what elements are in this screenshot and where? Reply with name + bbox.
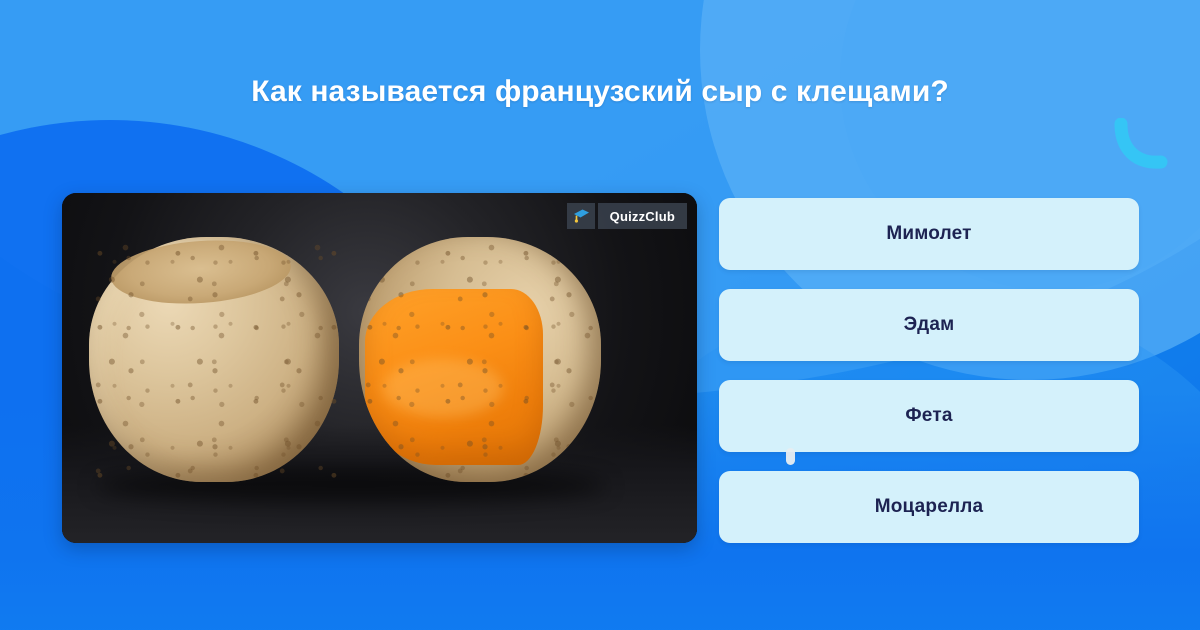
answer-option-1-label: Мимолет [886, 223, 971, 245]
answer-option-2[interactable]: Эдам [719, 289, 1139, 361]
page-title: Как называется французский сыр с клещами… [0, 72, 1200, 112]
graduation-cap-icon [572, 208, 590, 224]
answer-option-4[interactable]: Моцарелла [719, 471, 1139, 543]
scroll-handle[interactable] [786, 448, 795, 465]
watermark-label: QuizzClub [598, 203, 687, 229]
quizzclub-watermark: QuizzClub [567, 203, 687, 229]
answer-option-3[interactable]: Фета [719, 380, 1139, 452]
quiz-card: Как называется французский сыр с клещами… [0, 0, 1200, 630]
answer-options-list: Мимолет Эдам Фета Моцарелла [719, 198, 1139, 543]
answer-option-2-label: Эдам [904, 314, 955, 336]
cheese-cut-half [359, 237, 601, 482]
answer-option-1[interactable]: Мимолет [719, 198, 1139, 270]
cheese-paste-highlight [383, 359, 503, 417]
cheese-whole-wheel [89, 237, 339, 482]
watermark-icon-chip [567, 203, 595, 229]
answer-option-3-label: Фета [905, 405, 952, 427]
answer-option-4-label: Моцарелла [875, 496, 984, 518]
cheese-orange-paste [365, 289, 543, 465]
crescent-arc-icon [1113, 118, 1171, 172]
question-image: QuizzClub [62, 193, 697, 543]
